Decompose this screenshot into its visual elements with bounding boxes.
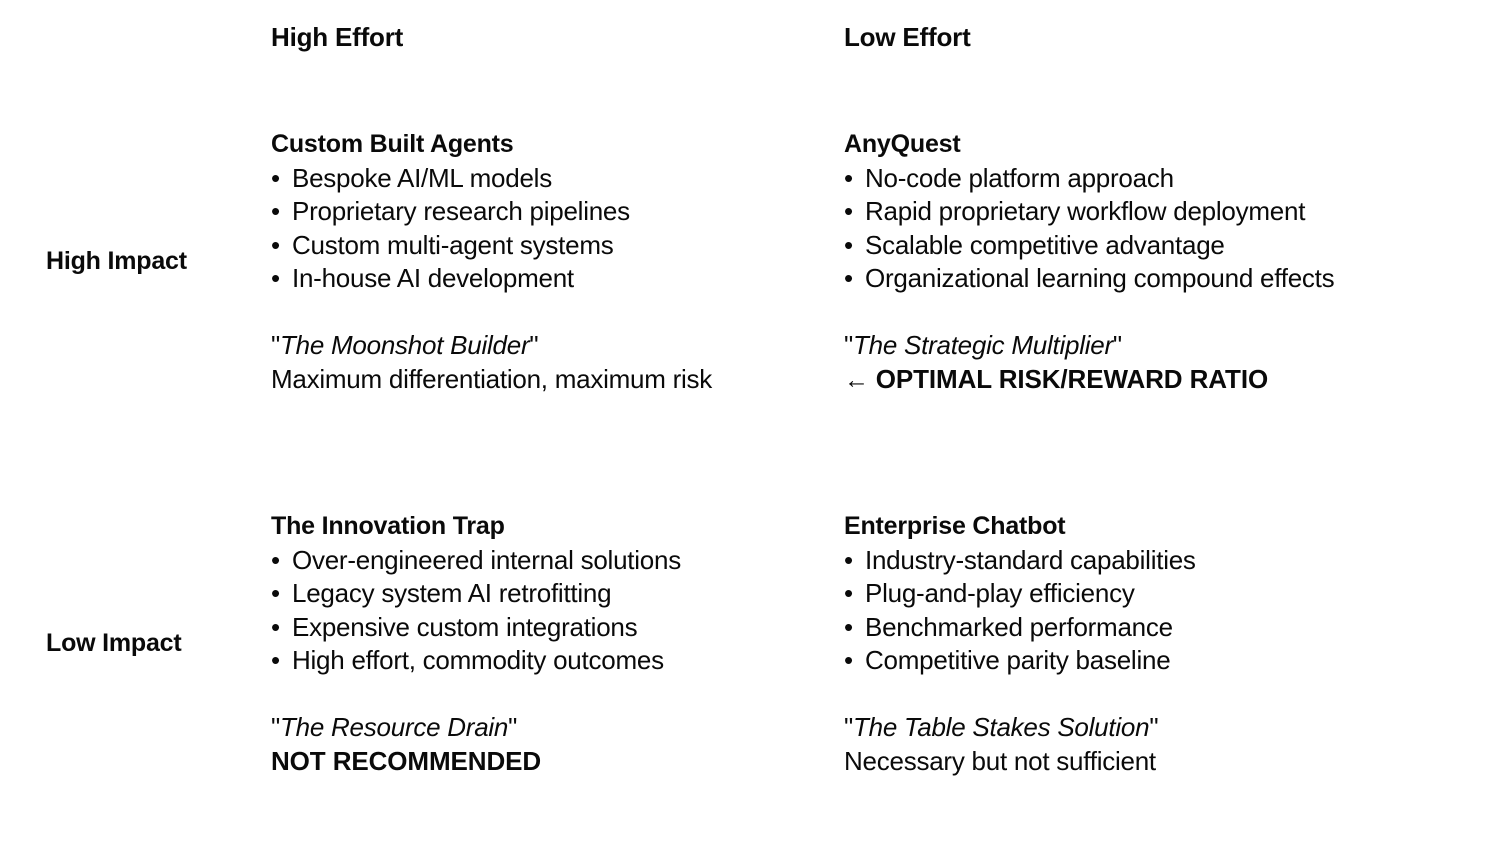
quadrant-nickname: "The Table Stakes Solution" (844, 711, 1444, 745)
quadrant-high-effort-low-impact: The Innovation Trap Over-engineered inte… (271, 510, 871, 779)
quote-text: The Resource Drain (280, 712, 508, 742)
list-item: Benchmarked performance (844, 611, 1444, 645)
list-item: High effort, commodity outcomes (271, 644, 871, 678)
quadrant-bullet-list: Over-engineered internal solutions Legac… (271, 544, 871, 678)
spacer (271, 678, 871, 712)
list-item: In-house AI development (271, 262, 871, 296)
quote-close-mark: " (508, 712, 517, 742)
quadrant-title: Enterprise Chatbot (844, 510, 1444, 544)
row-label-high-impact: High Impact (46, 247, 187, 276)
left-arrow-icon: ← (844, 366, 876, 394)
list-item: Legacy system AI retrofitting (271, 577, 871, 611)
quadrant-bullet-list: Industry-standard capabilities Plug-and-… (844, 544, 1444, 678)
quadrant-title: Custom Built Agents (271, 128, 871, 162)
column-header-high-effort: High Effort (271, 22, 403, 52)
quadrant-verdict: NOT RECOMMENDED (271, 745, 871, 780)
quote-open-mark: " (844, 712, 853, 742)
row-label-low-impact: Low Impact (46, 629, 182, 658)
quadrant-bullet-list: No-code platform approach Rapid propriet… (844, 162, 1444, 296)
quote-text: The Moonshot Builder (280, 330, 529, 360)
quadrant-verdict: Maximum differentiation, maximum risk (271, 363, 871, 398)
list-item: Plug-and-play efficiency (844, 577, 1444, 611)
quote-open-mark: " (271, 712, 280, 742)
effort-impact-matrix: High Effort Low Effort High Impact Low I… (0, 0, 1488, 842)
spacer (271, 296, 871, 330)
spacer (844, 296, 1444, 330)
list-item: Competitive parity baseline (844, 644, 1444, 678)
list-item: Organizational learning compound effects (844, 262, 1444, 296)
list-item: Industry-standard capabilities (844, 544, 1444, 578)
list-item: Rapid proprietary workflow deployment (844, 195, 1444, 229)
quadrant-title: AnyQuest (844, 128, 1444, 162)
quadrant-verdict: ← OPTIMAL RISK/REWARD RATIO (844, 363, 1444, 398)
quadrant-verdict: Necessary but not sufficient (844, 745, 1444, 780)
quote-close-mark: " (529, 330, 538, 360)
list-item: Scalable competitive advantage (844, 229, 1444, 263)
quote-text: The Table Stakes Solution (853, 712, 1149, 742)
column-header-low-effort: Low Effort (844, 22, 971, 52)
verdict-text: OPTIMAL RISK/REWARD RATIO (876, 364, 1268, 394)
list-item: Proprietary research pipelines (271, 195, 871, 229)
quote-open-mark: " (271, 330, 280, 360)
quote-close-mark: " (1149, 712, 1158, 742)
quadrant-high-effort-high-impact: Custom Built Agents Bespoke AI/ML models… (271, 128, 871, 397)
list-item: Over-engineered internal solutions (271, 544, 871, 578)
verdict-text: NOT RECOMMENDED (271, 746, 541, 776)
list-item: Expensive custom integrations (271, 611, 871, 645)
list-item: No-code platform approach (844, 162, 1444, 196)
list-item: Bespoke AI/ML models (271, 162, 871, 196)
quadrant-low-effort-high-impact: AnyQuest No-code platform approach Rapid… (844, 128, 1444, 397)
quote-text: The Strategic Multiplier (853, 330, 1113, 360)
list-item: Custom multi-agent systems (271, 229, 871, 263)
quote-close-mark: " (1113, 330, 1122, 360)
quadrant-nickname: "The Moonshot Builder" (271, 329, 871, 363)
quadrant-title: The Innovation Trap (271, 510, 871, 544)
spacer (844, 678, 1444, 712)
verdict-text: Necessary but not sufficient (844, 746, 1156, 776)
quote-open-mark: " (844, 330, 853, 360)
quadrant-low-effort-low-impact: Enterprise Chatbot Industry-standard cap… (844, 510, 1444, 779)
verdict-text: Maximum differentiation, maximum risk (271, 364, 712, 394)
quadrant-bullet-list: Bespoke AI/ML models Proprietary researc… (271, 162, 871, 296)
quadrant-nickname: "The Resource Drain" (271, 711, 871, 745)
quadrant-nickname: "The Strategic Multiplier" (844, 329, 1444, 363)
